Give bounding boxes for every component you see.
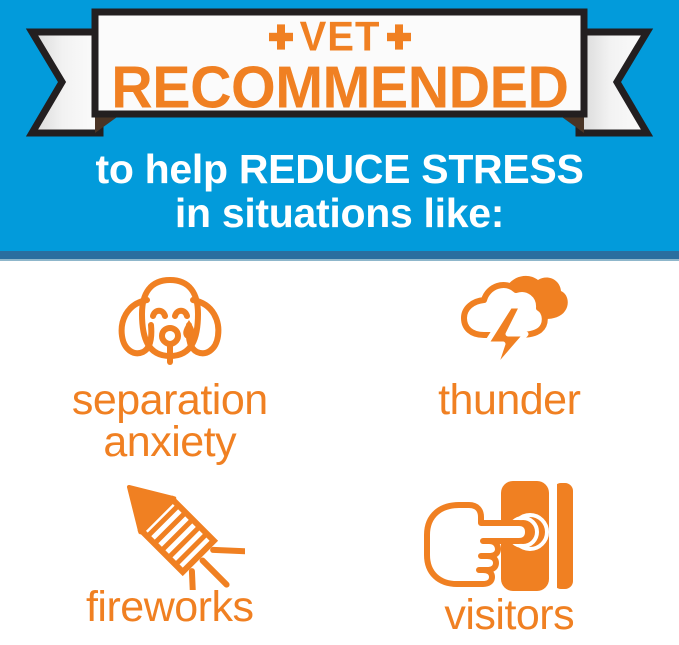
recommended-label: RECOMMENDED [111,58,568,117]
firework-rocket-icon [95,465,245,591]
situation-visitors: visitors [340,463,679,645]
situation-label: thunder [438,380,580,422]
doorbell-hand-icon [419,473,599,599]
plus-icon-left [269,24,293,49]
hero-underline-light [0,259,679,261]
thunder-cloud-icon [448,268,570,376]
hero-underline-dark [0,251,679,259]
plus-icon-right [387,24,411,49]
headline-block: to help REDUCE STRESS in situations like… [0,148,679,236]
vet-line: VET [269,16,412,58]
ribbon-text-block: VET RECOMMENDED [95,14,585,120]
situation-separation-anxiety: separation anxiety [0,262,340,463]
situation-thunder: thunder [340,262,679,463]
vet-label: VET [300,16,381,58]
sad-dog-icon [110,268,230,376]
situation-label: fireworks [86,587,254,629]
situation-label: visitors [444,595,574,637]
situation-fireworks: fireworks [0,463,340,645]
headline-line-1: to help REDUCE STRESS [0,148,679,192]
situations-grid: separation anxiety thunder [0,262,679,645]
situation-label: separation anxiety [0,380,340,463]
headline-line-2: in situations like: [0,192,679,236]
